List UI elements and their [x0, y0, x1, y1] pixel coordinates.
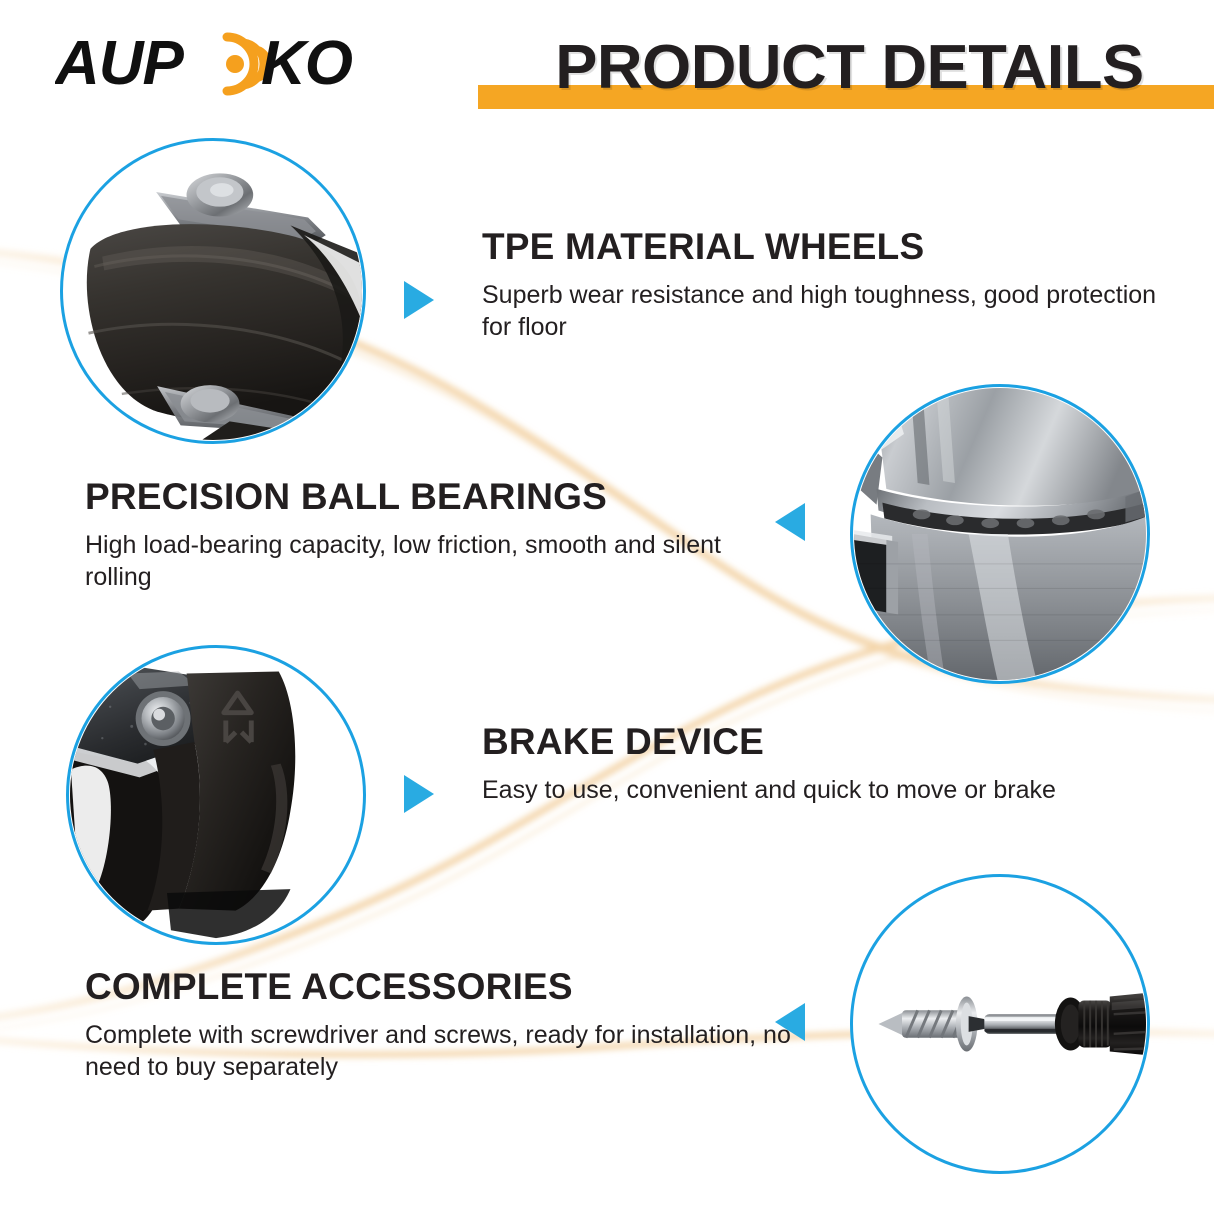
- feature-text-1: TPE MATERIAL WHEELS Superb wear resistan…: [482, 228, 1172, 344]
- svg-text:AUP: AUP: [55, 29, 185, 98]
- feature-title-1: TPE MATERIAL WHEELS: [482, 228, 1172, 267]
- feature-title-4: COMPLETE ACCESSORIES: [85, 968, 805, 1007]
- page-title: PRODUCT DETAILS: [470, 22, 1214, 114]
- feature-title-2: PRECISION BALL BEARINGS: [85, 478, 785, 517]
- ball-bearing-photo: [850, 384, 1150, 684]
- logo-wordmark-right: KO: [261, 29, 353, 98]
- screwdriver-screw-photo: [850, 874, 1150, 1174]
- feature-body-3: Easy to use, convenient and quick to mov…: [482, 774, 1172, 807]
- feature-text-3: BRAKE DEVICE Easy to use, convenient and…: [482, 723, 1172, 806]
- feature-body-2: High load-bearing capacity, low friction…: [85, 529, 785, 594]
- caster-wheel-photo: [60, 138, 366, 444]
- feature-body-4: Complete with screwdriver and screws, re…: [85, 1019, 805, 1084]
- arrow-right-feature-3: [404, 775, 434, 813]
- arrow-right-feature-1: [404, 281, 434, 319]
- page-title-wrap: PRODUCT DETAILS: [470, 22, 1214, 118]
- feature-title-3: BRAKE DEVICE: [482, 723, 1172, 762]
- logo-svg: AUP KO: [55, 24, 385, 104]
- header: AUP KO PRODUCT DETAILS: [0, 0, 1214, 120]
- feature-text-4: COMPLETE ACCESSORIES Complete with screw…: [85, 968, 805, 1084]
- svg-text:KO: KO: [261, 29, 353, 98]
- brand-logo: AUP KO: [55, 24, 385, 104]
- feature-body-1: Superb wear resistance and high toughnes…: [482, 279, 1172, 344]
- logo-wordmark-left: AUP: [55, 29, 185, 98]
- brake-lever-photo: [66, 645, 366, 945]
- feature-text-2: PRECISION BALL BEARINGS High load-bearin…: [85, 478, 785, 594]
- infographic-canvas: AUP KO PRODUCT DETAILS: [0, 0, 1214, 1214]
